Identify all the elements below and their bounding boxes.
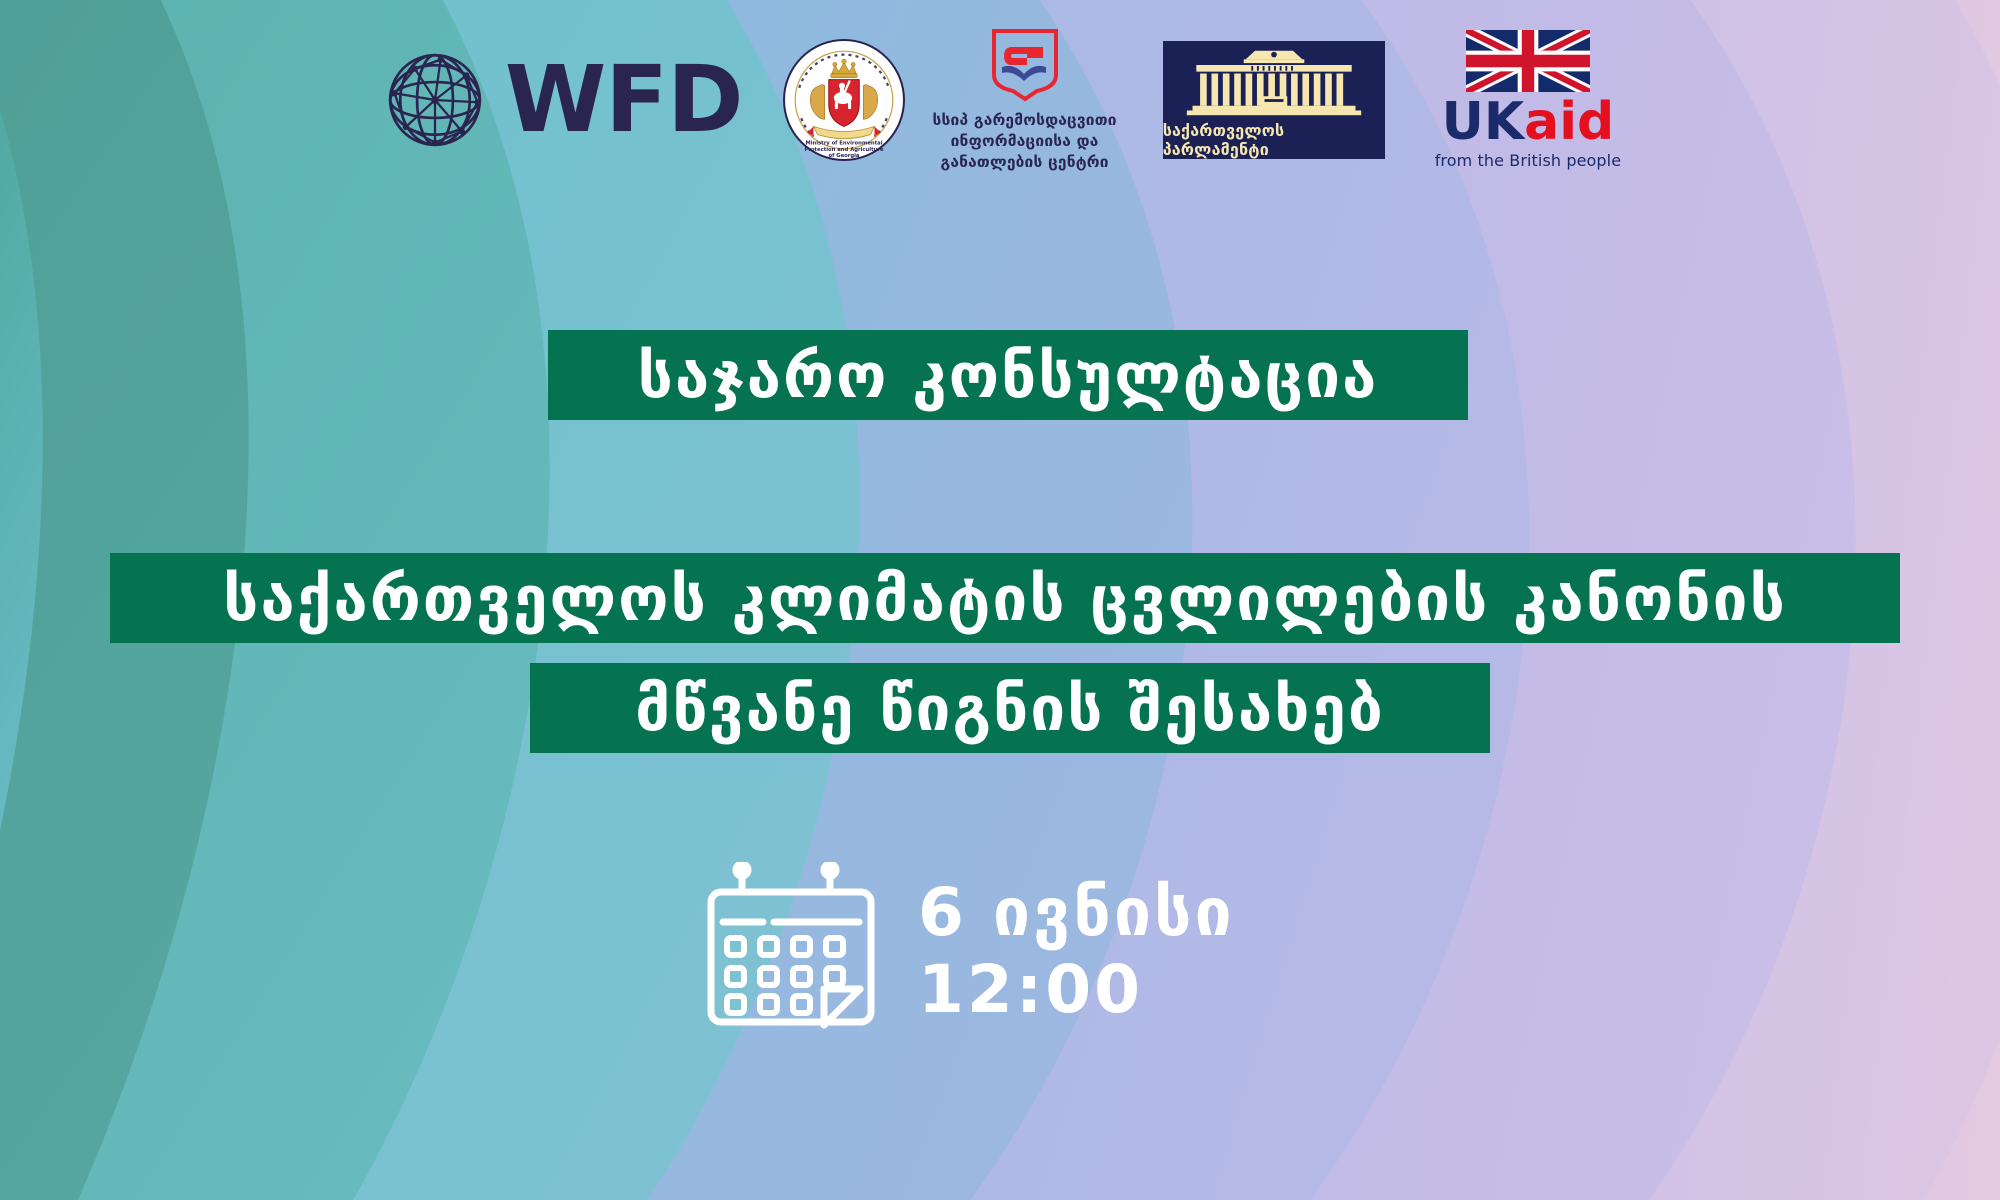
eic-line3: განათლების ცენტრი [933, 152, 1117, 173]
event-time: 12:00 [918, 952, 1235, 1029]
subtitle-line-2: მწვანე წიგნის შესახებ [530, 663, 1490, 753]
ukaid-uk: UK [1442, 92, 1525, 152]
eic-line2: ინფორმაციისა და [933, 131, 1117, 152]
environmental-info-center-shield-icon [988, 27, 1062, 105]
svg-text:of Georgia: of Georgia [828, 153, 859, 159]
event-datetime: 6 ივნისი 12:00 [706, 862, 1235, 1042]
logo-wfd: WFD [379, 44, 743, 156]
logo-ukaid: UKaid from the British people [1435, 30, 1621, 170]
wfd-wordmark: WFD [505, 54, 743, 146]
calendar-icon [706, 862, 876, 1042]
logo-ministry-of-environment: Ministry of Environmental Protection and… [783, 39, 905, 161]
parliament-label: საქართველოს პარლამენტი [1163, 121, 1385, 159]
logo-environmental-info-center: სსიპ გარემოსდაცვითი ინფორმაციისა და განა… [933, 27, 1117, 172]
globe-grid-icon [379, 44, 491, 156]
logo-bar: WFD [0, 0, 2000, 200]
union-jack-flag-icon [1466, 30, 1590, 92]
ukaid-aid: aid [1524, 92, 1614, 152]
ukaid-tagline: from the British people [1435, 151, 1621, 170]
page-title: საჯარო კონსულტაცია [548, 330, 1468, 420]
parliament-building-icon [1176, 47, 1372, 119]
logo-parliament-of-georgia: საქართველოს პარლამენტი [1163, 41, 1385, 159]
subtitle-line-1: საქართველოს კლიმატის ცვლილების კანონის [110, 553, 1900, 643]
georgia-coat-of-arms-seal-icon: Ministry of Environmental Protection and… [783, 39, 905, 161]
svg-text:Ministry of Environmental: Ministry of Environmental [805, 141, 882, 147]
eic-line1: სსიპ გარემოსდაცვითი [933, 110, 1117, 131]
event-date: 6 ივნისი [918, 875, 1235, 952]
svg-text:Protection and Agriculture: Protection and Agriculture [804, 147, 883, 153]
